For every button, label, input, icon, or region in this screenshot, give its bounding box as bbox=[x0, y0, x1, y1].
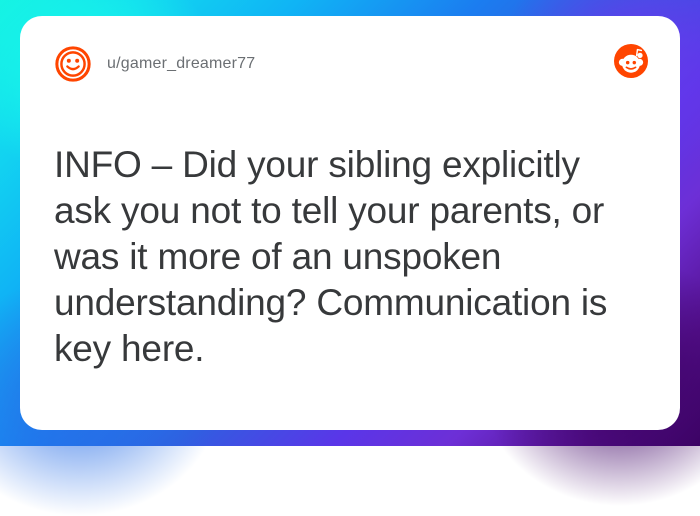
post-card: u/gamer_dreamer77 INFO – Did your siblin… bbox=[20, 16, 680, 430]
reddit-snoo-icon[interactable] bbox=[614, 44, 648, 78]
username-label[interactable]: u/gamer_dreamer77 bbox=[107, 55, 255, 73]
post-body-text: INFO – Did your sibling explicitly ask y… bbox=[54, 142, 646, 372]
smiley-avatar-icon[interactable] bbox=[54, 45, 92, 83]
screenshot-root: u/gamer_dreamer77 INFO – Did your siblin… bbox=[0, 0, 700, 446]
post-header: u/gamer_dreamer77 bbox=[54, 42, 646, 86]
